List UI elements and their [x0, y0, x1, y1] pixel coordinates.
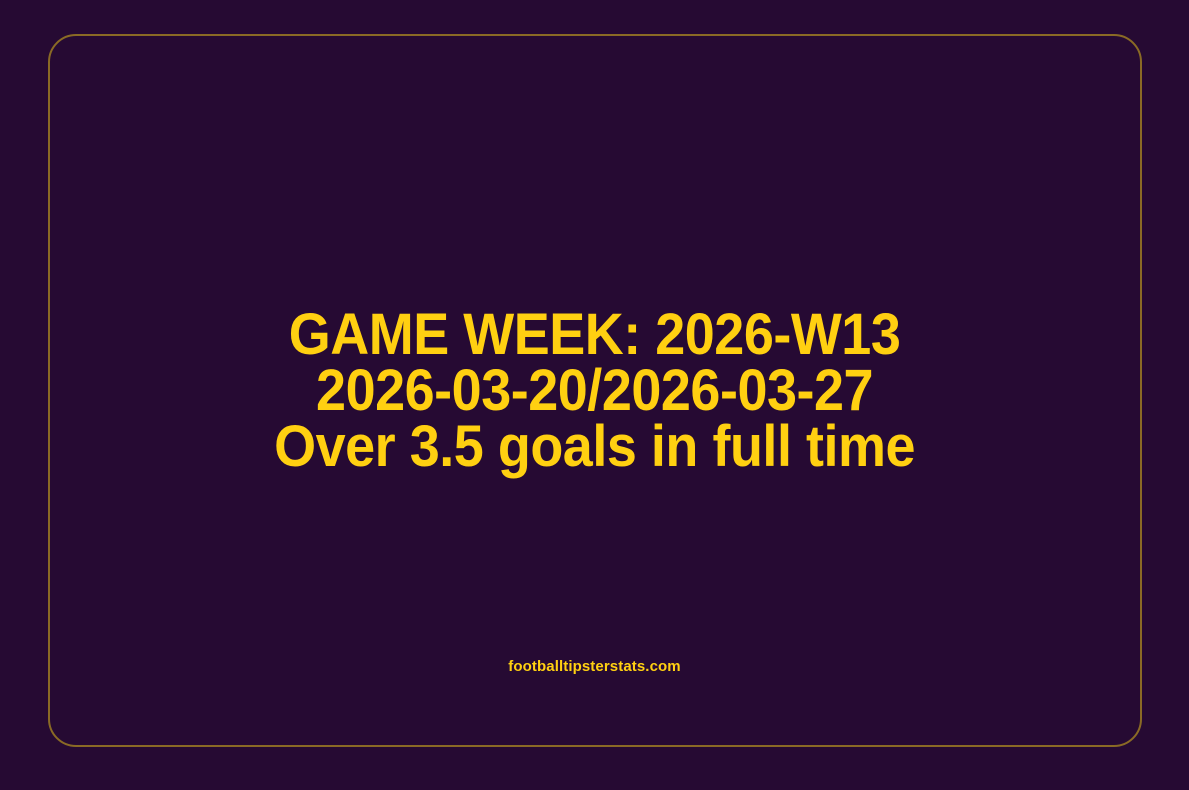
banner-content: GAME WEEK: 2026-W13 2026-03-20/2026-03-2… — [48, 34, 1142, 747]
footer-site-url: footballtipsterstats.com — [0, 658, 1189, 675]
headline-date-range: 2026-03-20/2026-03-27 — [275, 363, 916, 419]
banner-headline: GAME WEEK: 2026-W13 2026-03-20/2026-03-2… — [275, 307, 916, 475]
headline-market: Over 3.5 goals in full time — [275, 419, 916, 475]
promo-banner: GAME WEEK: 2026-W13 2026-03-20/2026-03-2… — [0, 0, 1189, 790]
headline-game-week: GAME WEEK: 2026-W13 — [275, 307, 916, 363]
